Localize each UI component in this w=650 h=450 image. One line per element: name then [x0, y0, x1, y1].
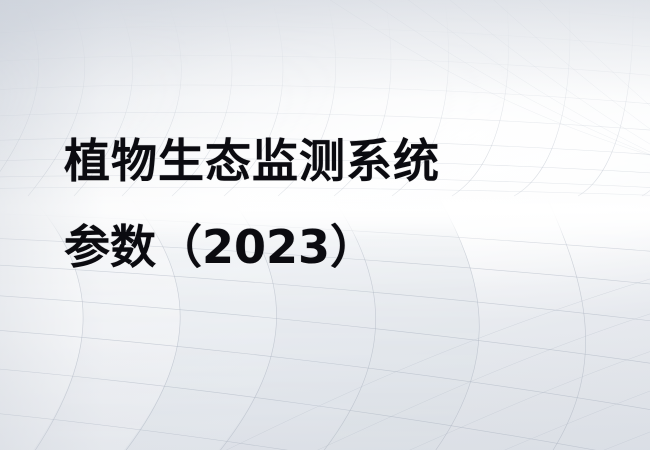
title-slide: 植物生态监测系统 参数（2023）	[0, 0, 650, 450]
page-title: 植物生态监测系统 参数（2023）	[64, 118, 584, 290]
title-line-1: 植物生态监测系统	[64, 118, 584, 204]
title-line-2: 参数（2023）	[64, 204, 584, 290]
